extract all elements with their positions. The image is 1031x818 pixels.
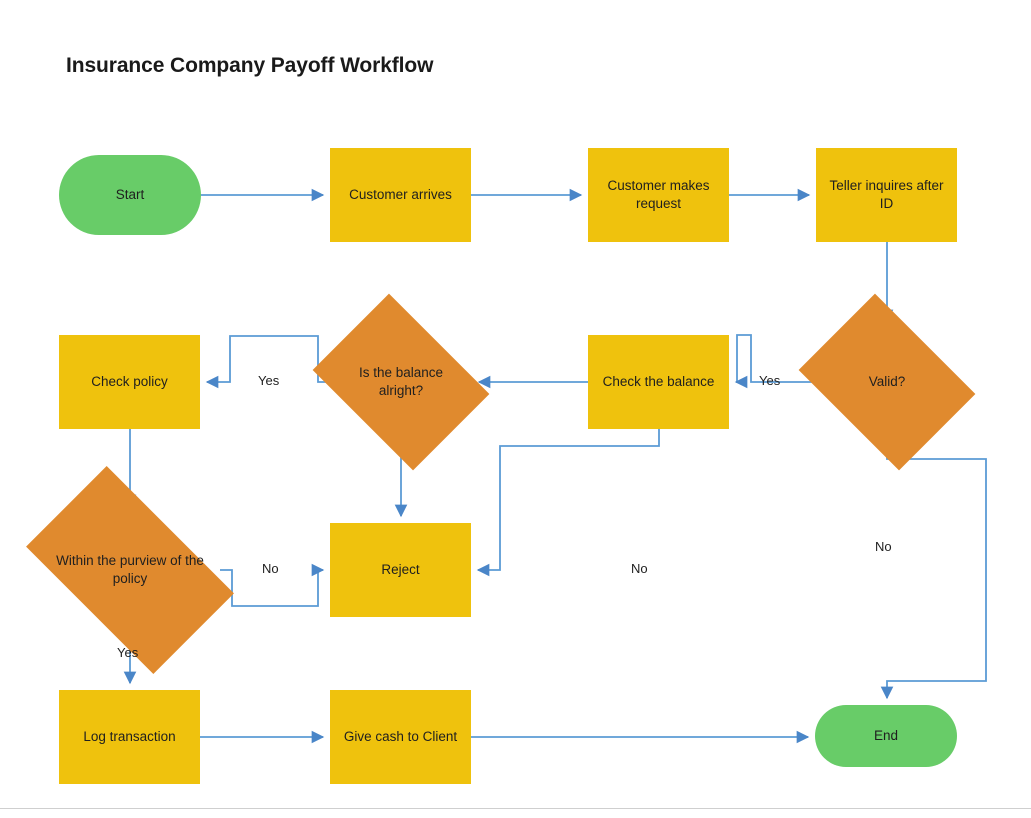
- edge-balance-reject-no: [478, 429, 659, 570]
- node-start[interactable]: Start: [59, 155, 201, 235]
- edge-label-valid-yes: Yes: [759, 373, 780, 388]
- node-check-policy[interactable]: Check policy: [59, 335, 200, 429]
- node-start-label: Start: [116, 186, 145, 204]
- flowchart-canvas: Insurance Company Payoff Workflow: [0, 0, 1031, 818]
- node-log-transaction-label: Log transaction: [83, 728, 175, 746]
- node-teller-inquires-after-id[interactable]: Teller inquires after ID: [816, 148, 957, 242]
- edge-label-valid-no: No: [875, 539, 892, 554]
- node-within-the-purview-of-the-policy-label: Within the purview of the policy: [46, 552, 214, 588]
- node-is-the-balance-alright[interactable]: Is the balance alright?: [330, 328, 472, 436]
- node-customer-arrives[interactable]: Customer arrives: [330, 148, 471, 242]
- node-is-the-balance-alright-label: Is the balance alright?: [336, 364, 466, 400]
- node-reject[interactable]: Reject: [330, 523, 471, 617]
- node-valid[interactable]: Valid?: [816, 328, 958, 436]
- node-give-cash-to-client-label: Give cash to Client: [344, 728, 457, 746]
- bottom-divider: [0, 808, 1031, 809]
- node-valid-label: Valid?: [869, 373, 906, 391]
- node-log-transaction[interactable]: Log transaction: [59, 690, 200, 784]
- node-end-label: End: [874, 727, 898, 745]
- edge-label-purview-no: No: [262, 561, 279, 576]
- edge-label-purview-yes: Yes: [117, 645, 138, 660]
- node-check-the-balance-label: Check the balance: [603, 373, 715, 391]
- node-customer-makes-request[interactable]: Customer makes request: [588, 148, 729, 242]
- node-customer-makes-request-label: Customer makes request: [594, 177, 723, 213]
- node-teller-inquires-after-id-label: Teller inquires after ID: [822, 177, 951, 213]
- edge-label-balance-no: No: [631, 561, 648, 576]
- edge-valid-end-no: [887, 436, 986, 698]
- node-give-cash-to-client[interactable]: Give cash to Client: [330, 690, 471, 784]
- edge-label-isbalance-yes: Yes: [258, 373, 279, 388]
- node-check-policy-label: Check policy: [91, 373, 168, 391]
- node-within-the-purview-of-the-policy[interactable]: Within the purview of the policy: [40, 513, 220, 627]
- node-check-the-balance[interactable]: Check the balance: [588, 335, 729, 429]
- node-reject-label: Reject: [381, 561, 419, 579]
- node-end[interactable]: End: [815, 705, 957, 767]
- node-customer-arrives-label: Customer arrives: [349, 186, 452, 204]
